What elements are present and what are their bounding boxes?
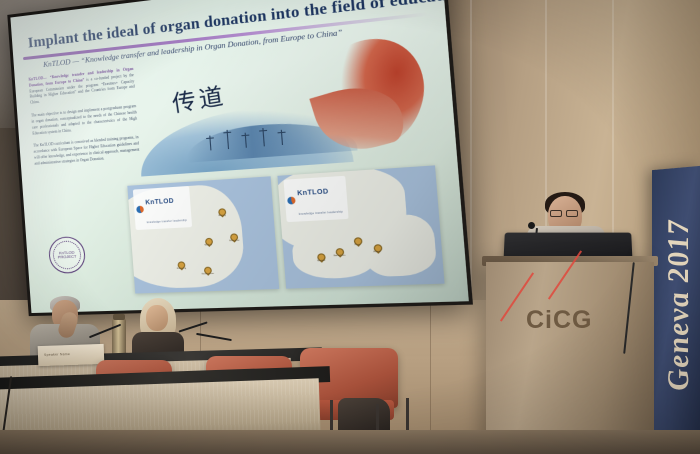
paragraph-text: The main objective is to design and impl… (31, 104, 137, 135)
slide-paragraph: The KnTLOD curriculum is conceived as bl… (33, 135, 140, 167)
floor (0, 430, 700, 454)
slide-paragraph: The main objective is to design and impl… (31, 104, 138, 137)
slide-paragraph: KnTLOD— “Knowledge transfer and leadersh… (28, 67, 135, 107)
logo-mark-icon (287, 197, 296, 205)
map-pin-icon: Rome (373, 244, 379, 250)
conference-photo-scene: Implant the ideal of organ donation into… (0, 0, 700, 454)
name-card: Speaker Name (38, 344, 105, 366)
kntlod-logo-china: KnTLOD knowledge transfer leadership (133, 186, 192, 230)
map-pin-icon: Madrid (317, 253, 323, 259)
map-panel-europe: KnTLOD knowledge transfer leadership Mad… (277, 165, 444, 288)
map-pin-icon: Paris (353, 238, 359, 244)
slide-body-text: KnTLOD— “Knowledge transfer and leadersh… (28, 67, 140, 175)
logo-tagline: knowledge transfer leadership (147, 218, 187, 223)
venue-logo: CiCG (526, 306, 593, 335)
projection-screen: Implant the ideal of organ donation into… (7, 0, 473, 316)
map-panels: KnTLOD knowledge transfer leadership Bei… (127, 165, 444, 293)
glasses-icon (550, 210, 578, 215)
map-pin-icon: Shanghai (230, 233, 236, 239)
map-pin-label: Shanghai (222, 239, 247, 242)
map-pin-icon: Barcelona (335, 248, 341, 254)
map-pin-icon: Beijing (218, 208, 224, 214)
map-pin-icon: Kunming (178, 261, 184, 266)
logo-wordmark: KnTLOD (297, 187, 329, 197)
paragraph-text: The KnTLOD curriculum is conceived as bl… (33, 135, 139, 165)
chinese-calligraphy: 传道 (170, 77, 229, 119)
microphone-head-icon (528, 222, 535, 229)
map-panel-china: KnTLOD knowledge transfer leadership Bei… (127, 176, 279, 293)
presentation-slide: Implant the ideal of organ donation into… (10, 0, 468, 313)
seal-label: KnTLOD PROJECT (50, 250, 85, 260)
event-banner: Geneva 2017 (652, 166, 700, 454)
map-pin-icon: Wuhan (205, 238, 211, 244)
panelist-right-head (146, 305, 168, 331)
name-card-text: Speaker Name (44, 352, 70, 357)
banner-text: Geneva 2017 (662, 166, 696, 451)
logo-tagline: knowledge transfer leadership (299, 210, 343, 216)
logo-mark-icon (136, 206, 144, 214)
institution-seal-icon: KnTLOD PROJECT (48, 236, 87, 274)
logo-wordmark: KnTLOD (145, 197, 174, 206)
kntlod-logo-europe: KnTLOD knowledge transfer leadership (283, 176, 348, 222)
map-pin-icon: Guangzhou (204, 267, 210, 273)
